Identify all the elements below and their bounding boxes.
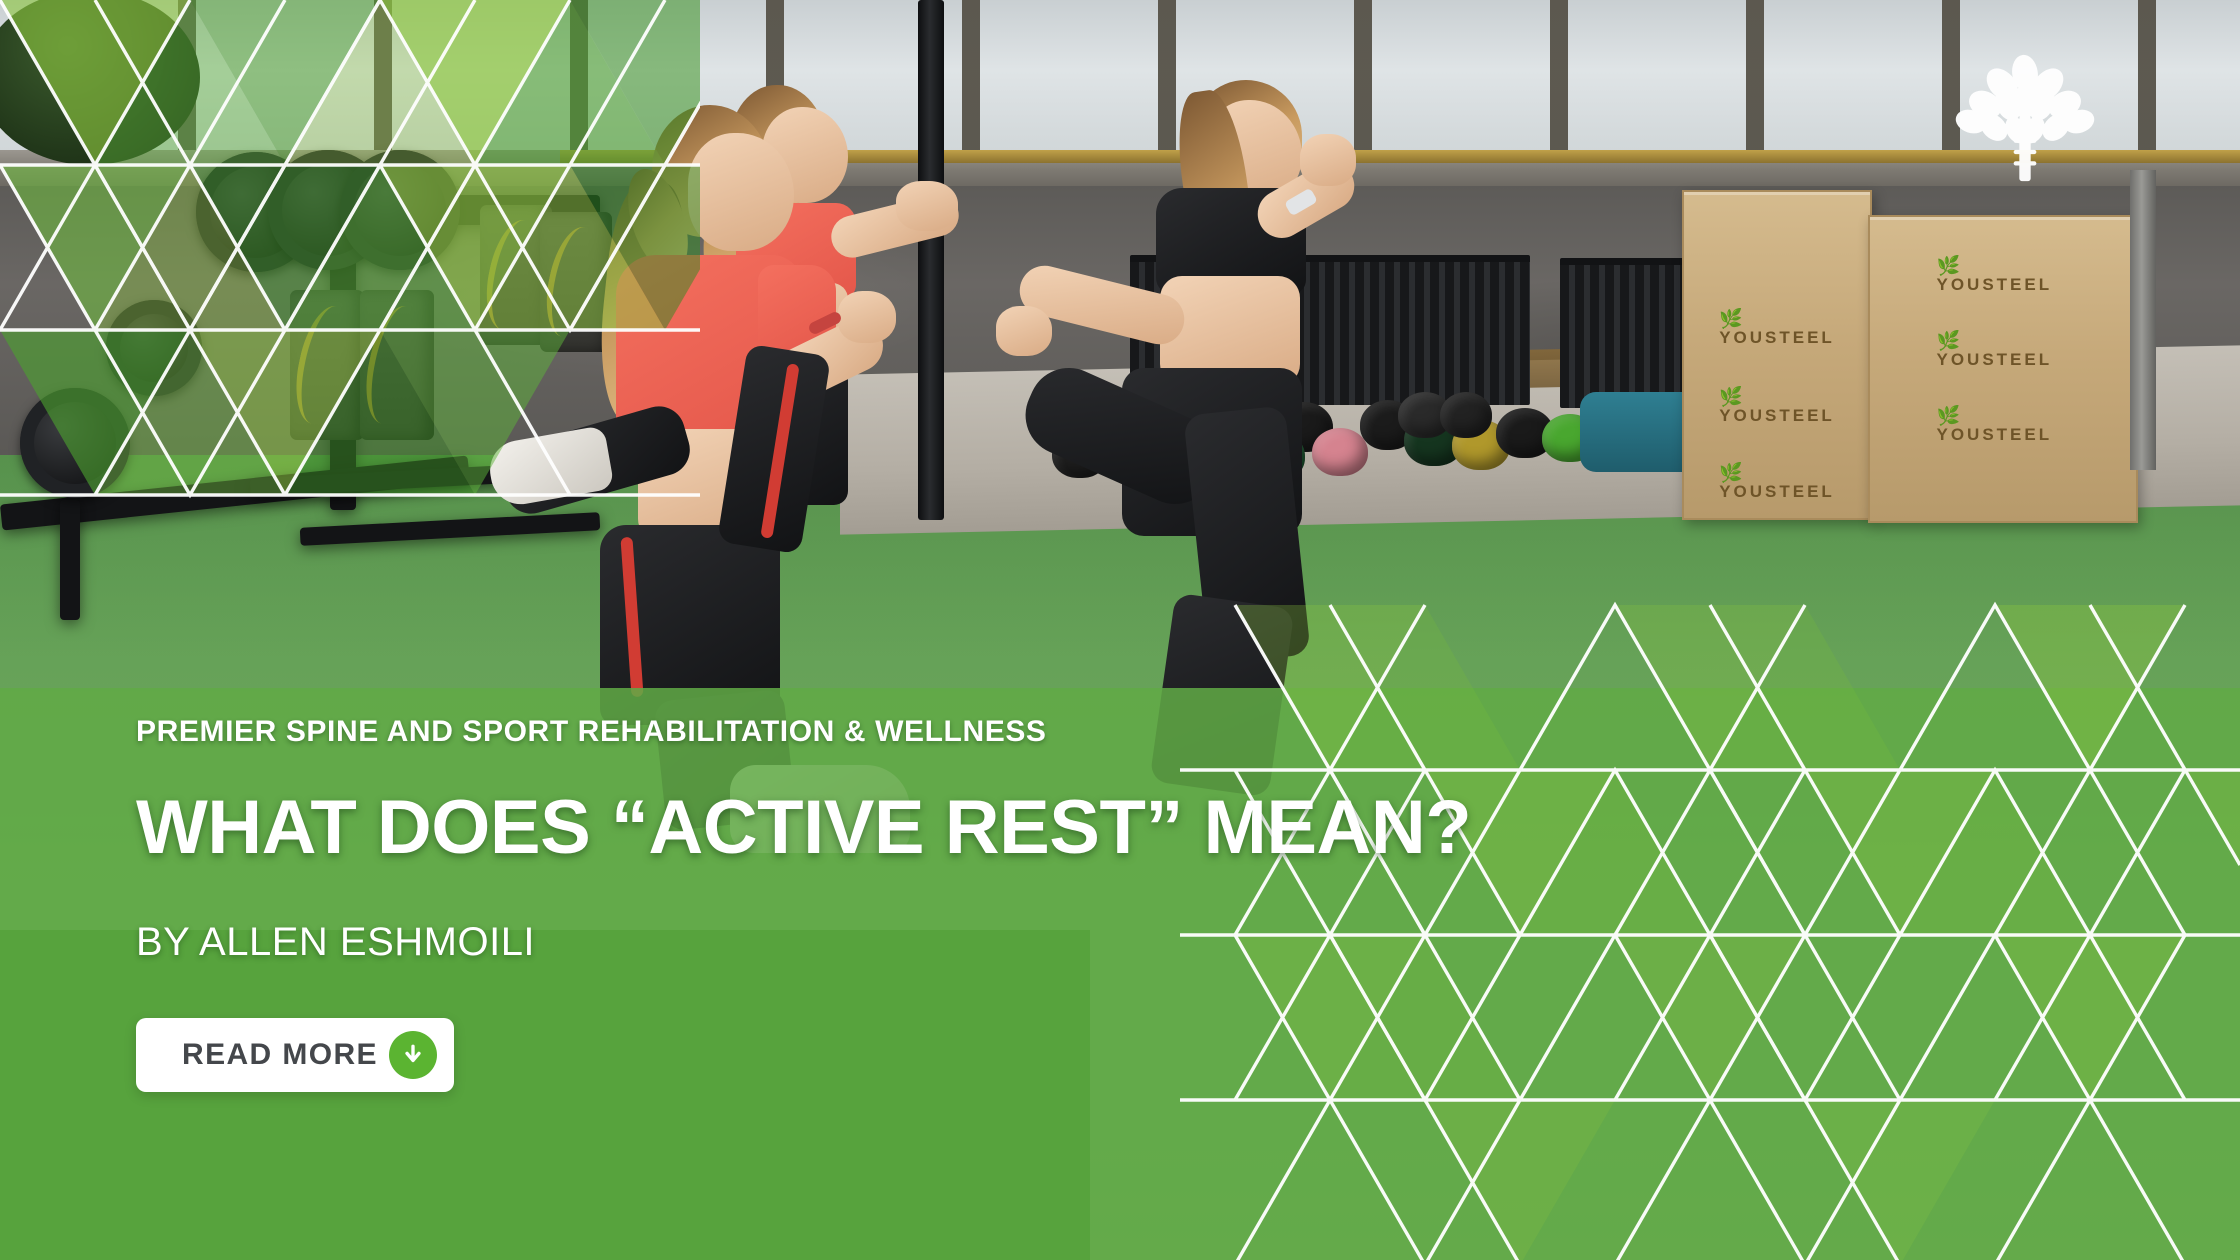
read-more-label: READ MORE (182, 1040, 378, 1070)
foam-roller (360, 290, 434, 440)
weight-plate (20, 388, 130, 498)
banner-byline: BY ALLEN ESHMOILI (136, 918, 2240, 966)
weight-plate (106, 300, 202, 396)
kettlebell (1440, 392, 1492, 438)
foam-roller (290, 290, 364, 440)
banner-content: PREMIER SPINE AND SPORT REHABILITATION &… (0, 688, 2240, 1260)
plyo-box: 🌿YOUSTEEL 🌿YOUSTEEL 🌿YOUSTEEL (1868, 215, 2138, 523)
plyo-box-label: 🌿YOUSTEEL (1719, 388, 1835, 424)
athlete-right (1010, 80, 1340, 640)
banner-eyebrow: PREMIER SPINE AND SPORT REHABILITATION &… (136, 714, 2240, 750)
bench-leg (60, 500, 80, 620)
plyo-box-label: 🌿YOUSTEEL (1937, 332, 2070, 368)
plyo-box-label: 🌿YOUSTEEL (1937, 407, 2070, 443)
plyo-box: 🌿YOUSTEEL 🌿YOUSTEEL 🌿YOUSTEEL (1682, 190, 1872, 520)
read-more-button[interactable]: READ MORE (136, 1018, 454, 1092)
plyo-box-label: 🌿YOUSTEEL (1937, 257, 2070, 293)
tree-logo-icon (1950, 42, 2100, 184)
wall-pipe (2130, 170, 2156, 470)
hero-banner: 🌿YOUSTEEL 🌿YOUSTEEL 🌿YOUSTEEL 🌿YOUSTEEL … (0, 0, 2240, 1260)
plyo-box-label: 🌿YOUSTEEL (1719, 464, 1835, 500)
arrow-down-circle-icon (389, 1031, 437, 1079)
page-title: WHAT DOES “ACTIVE REST” MEAN? (136, 788, 2240, 868)
weight-plate (340, 150, 460, 270)
plyo-box-label: 🌿YOUSTEEL (1719, 310, 1835, 346)
